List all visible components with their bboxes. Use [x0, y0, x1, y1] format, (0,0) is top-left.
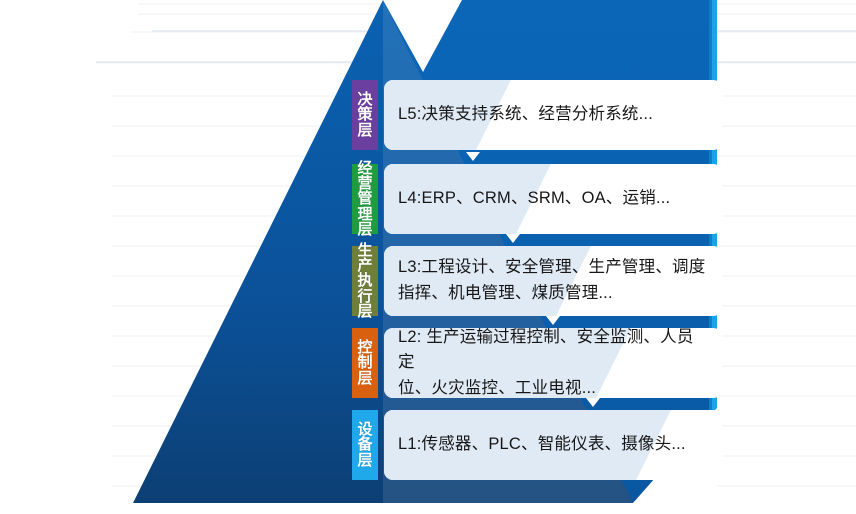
tab-char: 管 [357, 191, 372, 206]
layer-box-l4[interactable]: L4:ERP、CRM、SRM、OA、运销... [384, 164, 722, 234]
layer-box-l5[interactable]: L5:决策支持系统、经营分析系统... [384, 80, 722, 150]
layer-tab-l3[interactable]: 生 产 执 行 层 [352, 246, 378, 316]
tab-char: 策 [357, 107, 372, 122]
layer-tab-l1[interactable]: 设 备 层 [352, 410, 378, 480]
base-blue-fill [112, 503, 633, 514]
layer-tab-l5[interactable]: 决 策 层 [352, 80, 378, 150]
layer-box-l3[interactable]: L3:工程设计、安全管理、生产管理、调度 指挥、机电管理、煤质管理... [384, 246, 722, 316]
layer-row-l1[interactable]: 设 备 层 L1:传感器、PLC、智能仪表、摄像头... [352, 410, 722, 480]
tab-char: 层 [357, 123, 372, 138]
flow-arrow-marker-4 [586, 398, 600, 407]
tab-char: 层 [357, 222, 372, 237]
tab-char: 经 [357, 161, 372, 176]
flow-arrow-marker-2 [506, 234, 520, 243]
layer-row-l5[interactable]: 决 策 层 L5:决策支持系统、经营分析系统... [352, 80, 722, 150]
layer-text-l1: L1:传感器、PLC、智能仪表、摄像头... [398, 432, 686, 458]
layer-text-l3: L3:工程设计、安全管理、生产管理、调度 指挥、机电管理、煤质管理... [398, 255, 705, 306]
layer-text-l2: L2: 生产运输过程控制、安全监测、人员定 位、火灾监控、工业电视... [398, 328, 708, 398]
tab-char: 层 [357, 371, 372, 386]
layer-text-l4: L4:ERP、CRM、SRM、OA、运销... [398, 186, 670, 212]
diagram-canvas: 决 策 层 L5:决策支持系统、经营分析系统... 经 营 管 理 层 L4:E… [0, 0, 856, 514]
layer-row-l2[interactable]: 控 制 层 L2: 生产运输过程控制、安全监测、人员定 位、火灾监控、工业电视.… [352, 328, 722, 398]
layer-text-l5: L5:决策支持系统、经营分析系统... [398, 102, 653, 128]
tab-char: 理 [357, 207, 372, 222]
flow-arrow-marker-3 [546, 316, 560, 325]
tab-char: 执 [357, 273, 372, 288]
layer-row-l3[interactable]: 生 产 执 行 层 L3:工程设计、安全管理、生产管理、调度 指挥、机电管理、煤… [352, 246, 722, 316]
tab-char: 层 [357, 453, 372, 468]
tab-char: 生 [357, 243, 372, 258]
layer-tab-l4[interactable]: 经 营 管 理 层 [352, 164, 378, 234]
layer-row-l4[interactable]: 经 营 管 理 层 L4:ERP、CRM、SRM、OA、运销... [352, 164, 722, 234]
layer-box-l1[interactable]: L1:传感器、PLC、智能仪表、摄像头... [384, 410, 722, 480]
tab-char: 行 [357, 289, 372, 304]
flow-arrow-marker-1 [466, 152, 480, 161]
layer-box-l2[interactable]: L2: 生产运输过程控制、安全监测、人员定 位、火灾监控、工业电视... [384, 328, 722, 398]
layer-tab-l2[interactable]: 控 制 层 [352, 328, 378, 398]
tab-char: 制 [357, 355, 372, 370]
tab-char: 备 [357, 437, 372, 452]
tab-char: 层 [357, 304, 372, 319]
